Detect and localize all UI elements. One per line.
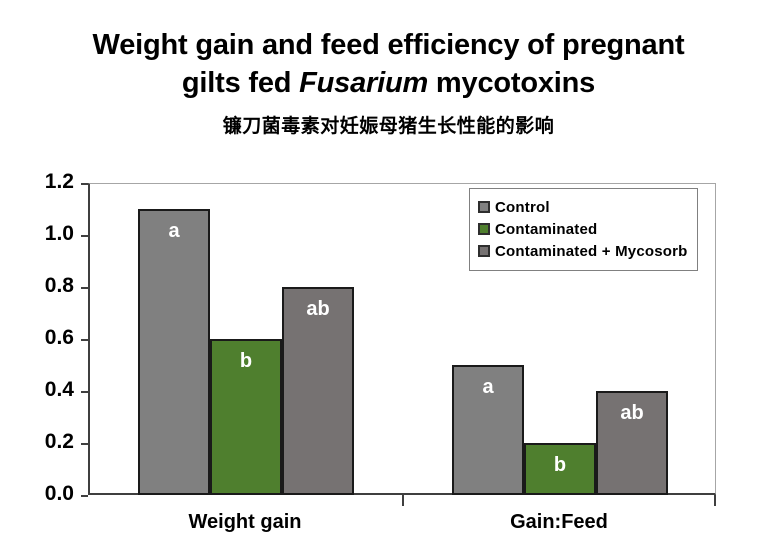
y-tick-label: 1.0 — [45, 222, 74, 246]
y-tick-mark — [81, 235, 88, 237]
legend-item-control[interactable]: Control — [478, 196, 688, 218]
x-axis-end-tick — [714, 495, 716, 506]
bar-gain-feed-control[interactable]: a — [452, 365, 524, 495]
y-tick-label: 0.6 — [45, 326, 74, 350]
bar-annotation: b — [554, 455, 566, 475]
legend-label: Control — [495, 199, 550, 216]
bar-weight-gain-control[interactable]: a — [138, 209, 210, 495]
y-tick-mark — [81, 495, 88, 497]
y-tick-label: 0.2 — [45, 430, 74, 454]
x-axis-separator-tick — [402, 495, 404, 506]
bar-gain-feed-contaminated[interactable]: b — [524, 443, 596, 495]
legend-swatch-icon — [478, 223, 490, 235]
chart-legend: Control Contaminated Contaminated + Myco… — [469, 188, 698, 271]
bar-annotation: a — [168, 221, 179, 241]
legend-swatch-icon — [478, 245, 490, 257]
legend-label: Contaminated + Mycosorb — [495, 243, 688, 260]
y-axis: 1.2 1.0 0.8 0.6 0.4 0.2 0.0 — [0, 183, 88, 495]
y-tick-label: 0.4 — [45, 378, 74, 402]
bar-weight-gain-mycosorb[interactable]: ab — [282, 287, 354, 495]
legend-item-contaminated[interactable]: Contaminated — [478, 218, 688, 240]
legend-item-mycosorb[interactable]: Contaminated + Mycosorb — [478, 240, 688, 262]
chart-figure: 1.2 1.0 0.8 0.6 0.4 0.2 0.0 — [0, 0, 777, 551]
x-label-gain-feed: Gain:Feed — [402, 511, 716, 534]
legend-swatch-icon — [478, 201, 490, 213]
x-axis: Weight gain Gain:Feed — [88, 495, 716, 545]
y-tick-label: 1.2 — [45, 170, 74, 194]
bar-annotation: ab — [620, 403, 643, 423]
legend-label: Contaminated — [495, 221, 597, 238]
y-tick-mark — [81, 287, 88, 289]
bar-annotation: ab — [306, 299, 329, 319]
bar-gain-feed-mycosorb[interactable]: ab — [596, 391, 668, 495]
bar-annotation: b — [240, 351, 252, 371]
y-tick-label: 0.0 — [45, 482, 74, 506]
y-tick-mark — [81, 183, 88, 185]
bar-annotation: a — [482, 377, 493, 397]
y-tick-mark — [81, 391, 88, 393]
y-tick-label: 0.8 — [45, 274, 74, 298]
y-tick-mark — [81, 443, 88, 445]
bar-weight-gain-contaminated[interactable]: b — [210, 339, 282, 495]
x-label-weight-gain: Weight gain — [88, 511, 402, 534]
y-tick-mark — [81, 339, 88, 341]
